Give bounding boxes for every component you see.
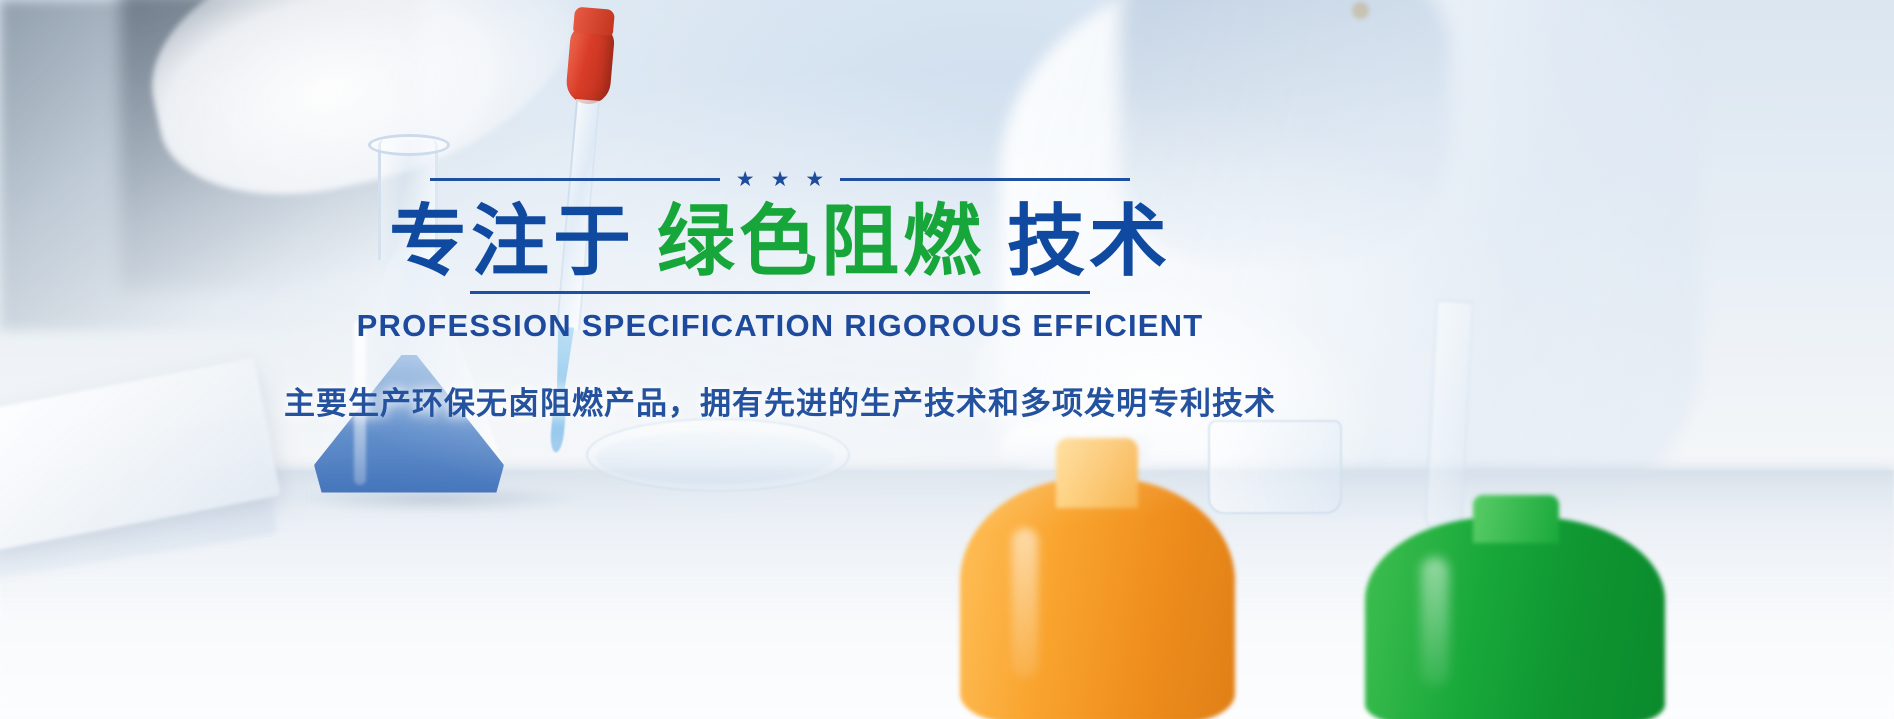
orange-flask: [960, 438, 1235, 719]
banner-description-chinese: 主要生产环保无卤阻燃产品，拥有先进的生产技术和多项发明专利技术: [0, 378, 1560, 423]
banner-subtitle-english: PROFESSION SPECIFICATION RIGOROUS EFFICI…: [0, 308, 1560, 344]
green-flask-neck: [1473, 495, 1559, 543]
title-underline: [470, 291, 1090, 294]
flask-lip: [368, 134, 450, 156]
title-part-highlight: 绿色阻燃: [657, 197, 985, 285]
background-shirt-button: [1352, 2, 1369, 19]
pipette-bulb-top: [573, 7, 615, 36]
green-flask-body: [1365, 517, 1665, 719]
banner-content: ★ ★ ★ 专注于绿色阻燃技术 PROFESSION SPECIFICATION…: [0, 168, 1560, 423]
star-group: ★ ★ ★: [736, 169, 824, 190]
orange-flask-highlight: [1012, 528, 1038, 678]
rule-left: [430, 178, 720, 181]
hero-banner: ★ ★ ★ 专注于绿色阻燃技术 PROFESSION SPECIFICATION…: [0, 0, 1894, 719]
star-icon: ★: [736, 169, 755, 190]
green-flask: [1365, 495, 1665, 719]
petri-dish-base: [596, 432, 834, 484]
green-flask-highlight: [1421, 557, 1449, 687]
decorative-rule-row: ★ ★ ★: [0, 168, 1560, 190]
orange-flask-body: [960, 478, 1235, 719]
banner-title: 专注于绿色阻燃技术: [0, 198, 1560, 285]
title-part-1: 专注于: [389, 197, 635, 285]
star-icon: ★: [771, 169, 790, 190]
pipette-red-bulb: [565, 24, 616, 106]
orange-flask-neck: [1056, 438, 1138, 508]
title-part-3: 技术: [1007, 197, 1171, 285]
star-icon: ★: [805, 169, 824, 190]
rule-right: [840, 178, 1130, 181]
